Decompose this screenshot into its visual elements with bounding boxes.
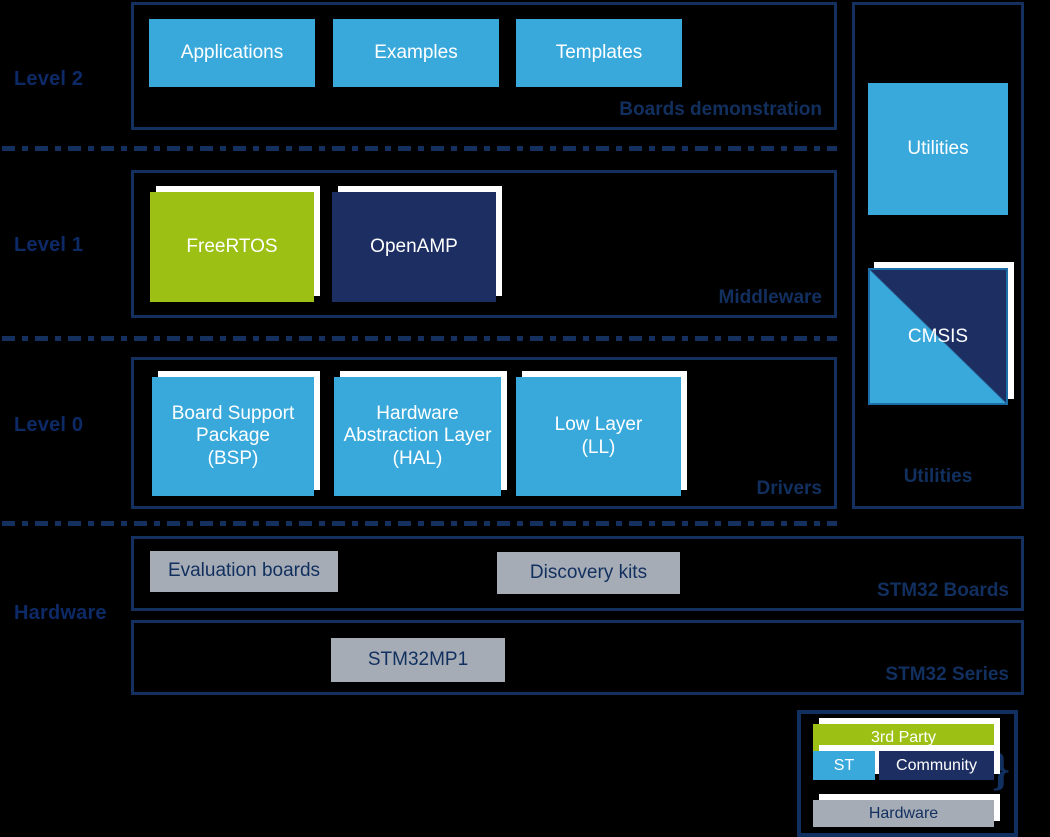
- chip-hardware-abstraction-layer[interactable]: Hardware Abstraction Layer (HAL): [334, 377, 501, 496]
- legend: } 3rd Party ST Community Hardware: [797, 710, 1018, 837]
- legend-label: Community: [896, 757, 977, 775]
- chip-label-line2: Package: [196, 425, 270, 446]
- level-label-level-2: Level 2: [14, 68, 83, 91]
- chip-label: Templates: [550, 42, 649, 64]
- chip-ll-body[interactable]: Low Layer (LL): [516, 377, 681, 496]
- level-label-hardware: Hardware: [14, 602, 107, 625]
- chip-label: CMSIS: [908, 326, 968, 348]
- separator-level1-level0: [2, 336, 837, 341]
- chip-freertos-body[interactable]: FreeRTOS: [150, 192, 314, 302]
- chip-label: OpenAMP: [364, 236, 464, 258]
- chip-bsp-body[interactable]: Board Support Package (BSP): [152, 377, 314, 496]
- chip-label-multiline: Board Support Package (BSP): [166, 403, 301, 470]
- chip-label-multiline: Low Layer (LL): [549, 414, 649, 459]
- chip-cmsis-body[interactable]: CMSIS: [868, 268, 1008, 405]
- group-utilities-column: Utilities: [852, 2, 1024, 509]
- chip-freertos[interactable]: FreeRTOS: [150, 192, 314, 302]
- group-tag-drivers: Drivers: [757, 478, 823, 500]
- legend-label: ST: [834, 757, 854, 775]
- legend-row-st-community: ST Community: [813, 751, 994, 780]
- legend-swatch-st[interactable]: ST: [813, 751, 875, 780]
- group-tag-middleware: Middleware: [719, 287, 822, 309]
- chip-templates[interactable]: Templates: [516, 19, 682, 87]
- chip-label: STM32MP1: [362, 649, 474, 671]
- separator-level0-hardware: [2, 521, 837, 526]
- chip-cmsis[interactable]: CMSIS: [868, 268, 1008, 405]
- chip-label-line3: (HAL): [393, 448, 443, 469]
- chip-label-line3: (BSP): [208, 448, 259, 469]
- legend-swatch-hardware[interactable]: Hardware: [813, 800, 994, 827]
- chip-label-line2: (LL): [582, 437, 616, 458]
- chip-board-support-package[interactable]: Board Support Package (BSP): [152, 377, 314, 496]
- chip-openamp[interactable]: OpenAMP: [332, 192, 496, 302]
- chip-label-multiline: Hardware Abstraction Layer (HAL): [338, 403, 498, 470]
- separator-level2-level1: [2, 146, 837, 151]
- chip-discovery-kits[interactable]: Discovery kits: [497, 552, 680, 594]
- chip-evaluation-boards[interactable]: Evaluation boards: [150, 551, 338, 592]
- chip-label-line1: Low Layer: [555, 414, 643, 435]
- chip-label-line2: Abstraction Layer: [344, 425, 492, 446]
- group-tag-boards-demonstration: Boards demonstration: [619, 99, 822, 121]
- chip-label: FreeRTOS: [180, 236, 283, 258]
- level-label-level-1: Level 1: [14, 234, 83, 257]
- group-stm32-series: STM32 Series: [131, 620, 1024, 695]
- legend-swatch-community[interactable]: Community: [879, 751, 994, 780]
- chip-label: Evaluation boards: [162, 560, 326, 582]
- chip-low-layer[interactable]: Low Layer (LL): [516, 377, 681, 496]
- chip-label: Examples: [368, 42, 463, 64]
- chip-hal-body[interactable]: Hardware Abstraction Layer (HAL): [334, 377, 501, 496]
- legend-label: Hardware: [869, 805, 938, 823]
- group-tag-stm32-series: STM32 Series: [885, 664, 1009, 686]
- legend-row-hardware: Hardware: [813, 800, 994, 827]
- chip-stm32mp1[interactable]: STM32MP1: [331, 638, 505, 682]
- chip-label: Utilities: [901, 138, 974, 160]
- level-label-level-0: Level 0: [14, 414, 83, 437]
- legend-label: 3rd Party: [871, 729, 936, 747]
- chip-utilities[interactable]: Utilities: [868, 83, 1008, 215]
- chip-label: Applications: [175, 42, 289, 64]
- chip-openamp-body[interactable]: OpenAMP: [332, 192, 496, 302]
- group-tag-utilities: Utilities: [855, 466, 1021, 488]
- diagram-canvas: Level 2 Level 1 Level 0 Hardware Boards …: [0, 0, 1050, 830]
- chip-label: Discovery kits: [524, 562, 653, 584]
- chip-applications[interactable]: Applications: [149, 19, 315, 87]
- chip-examples[interactable]: Examples: [333, 19, 499, 87]
- group-tag-stm32-boards: STM32 Boards: [877, 580, 1009, 602]
- chip-label-line1: Board Support: [172, 403, 295, 424]
- chip-label-line1: Hardware: [376, 403, 458, 424]
